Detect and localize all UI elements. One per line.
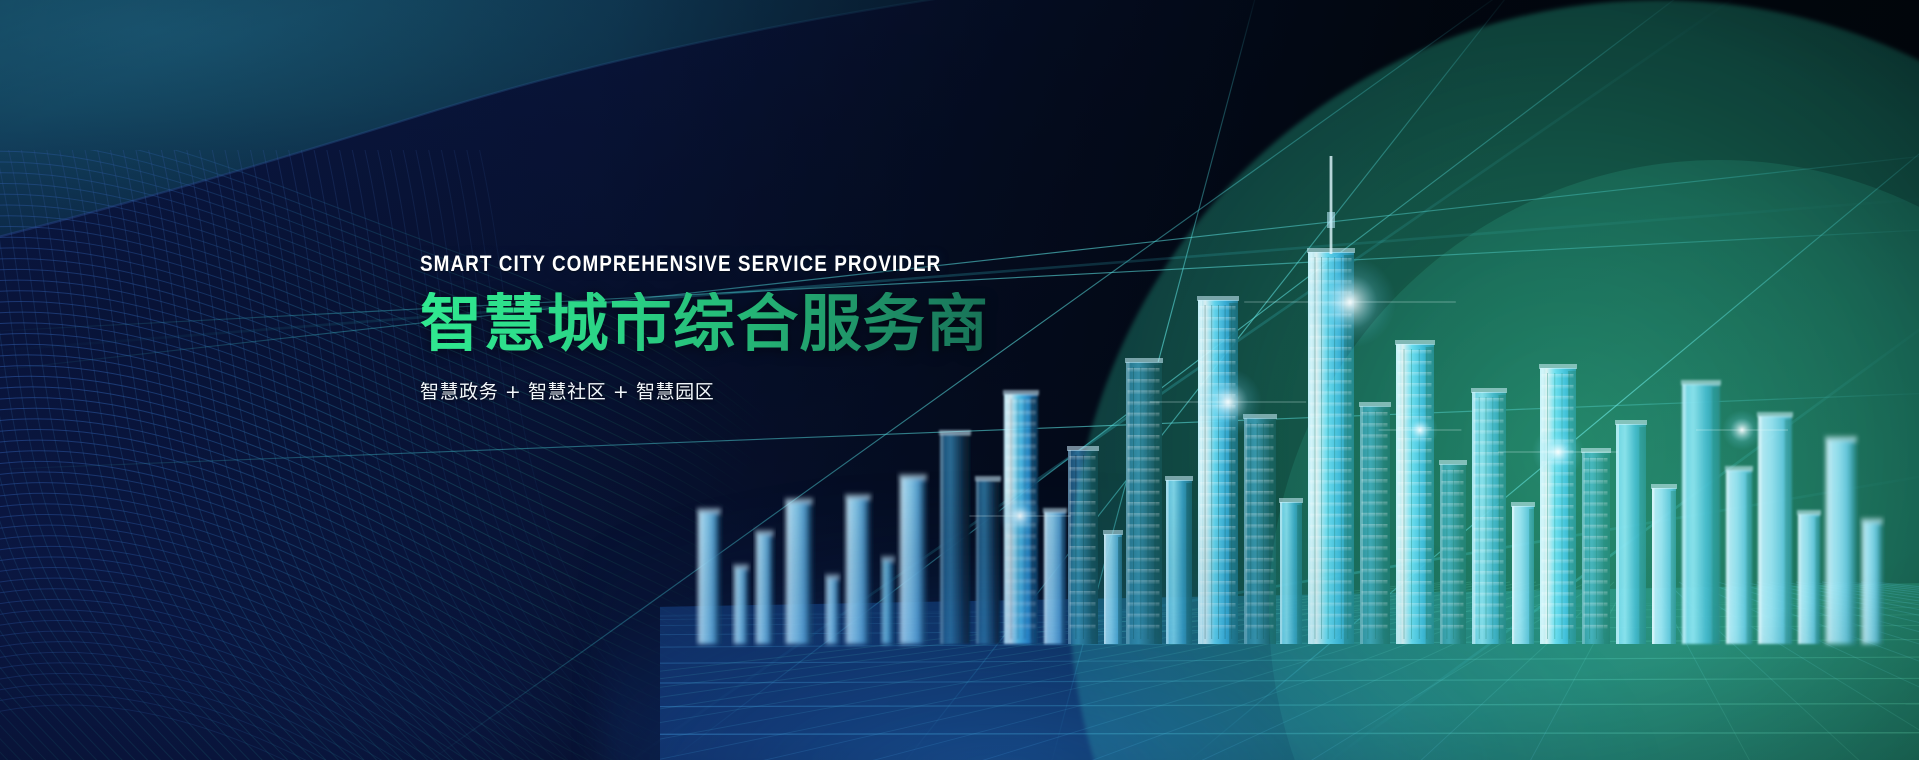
eyebrow-tagline: SMART CITY COMPREHENSIVE SERVICE PROVIDE… [420,252,970,276]
smart-city-banner: SMART CITY COMPREHENSIVE SERVICE PROVIDE… [0,0,1919,760]
page-title: 智慧城市综合服务商 [420,292,1060,356]
hero-text-block: SMART CITY COMPREHENSIVE SERVICE PROVIDE… [420,252,1060,404]
subtitle: 智慧政务 + 智慧社区 + 智慧园区 [420,377,1060,404]
